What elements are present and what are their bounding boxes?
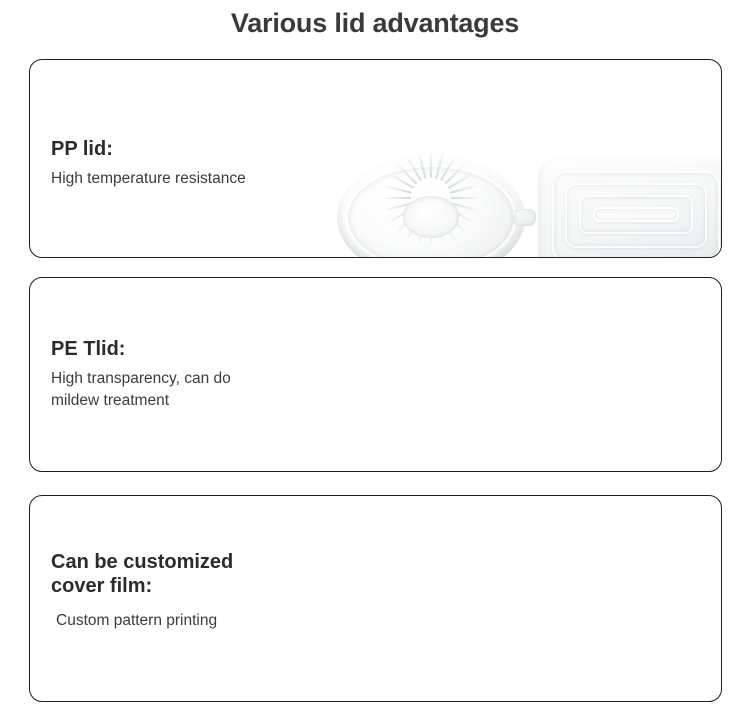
card-cover-film-text: Can be customized cover film: Custom pat…	[51, 551, 233, 633]
pp-round-hub	[403, 196, 459, 237]
page-title: Various lid advantages	[0, 8, 750, 39]
card-cover-film-heading: Can be customized cover film:	[51, 551, 233, 598]
round-ribbed-pp-lid-image	[337, 155, 525, 258]
card-pe-lid-description: High transparency, can do mildew treatme…	[51, 368, 231, 413]
card-cover-film: Can be customized cover film: Custom pat…	[29, 495, 722, 702]
card-pp-lid-text: PP lid: High temperature resistance	[51, 138, 246, 190]
card-cover-film-description: Custom pattern printing	[51, 604, 233, 632]
card-pe-lid-text: PE Tlid: High transparency, can do milde…	[51, 338, 231, 413]
card-pe-lid: PE Tlid: High transparency, can do milde…	[29, 277, 722, 472]
card-pp-lid-heading: PP lid:	[51, 138, 246, 162]
pp-round-tab	[514, 209, 536, 226]
card-pe-lid-heading: PE Tlid:	[51, 338, 231, 362]
rectangular-pp-lid-image	[538, 158, 722, 258]
pp-rect-rib-4	[593, 207, 679, 221]
card-pp-lid: PP lid: High temperature resistance	[29, 59, 722, 258]
card-pp-lid-description: High temperature resistance	[51, 168, 246, 190]
